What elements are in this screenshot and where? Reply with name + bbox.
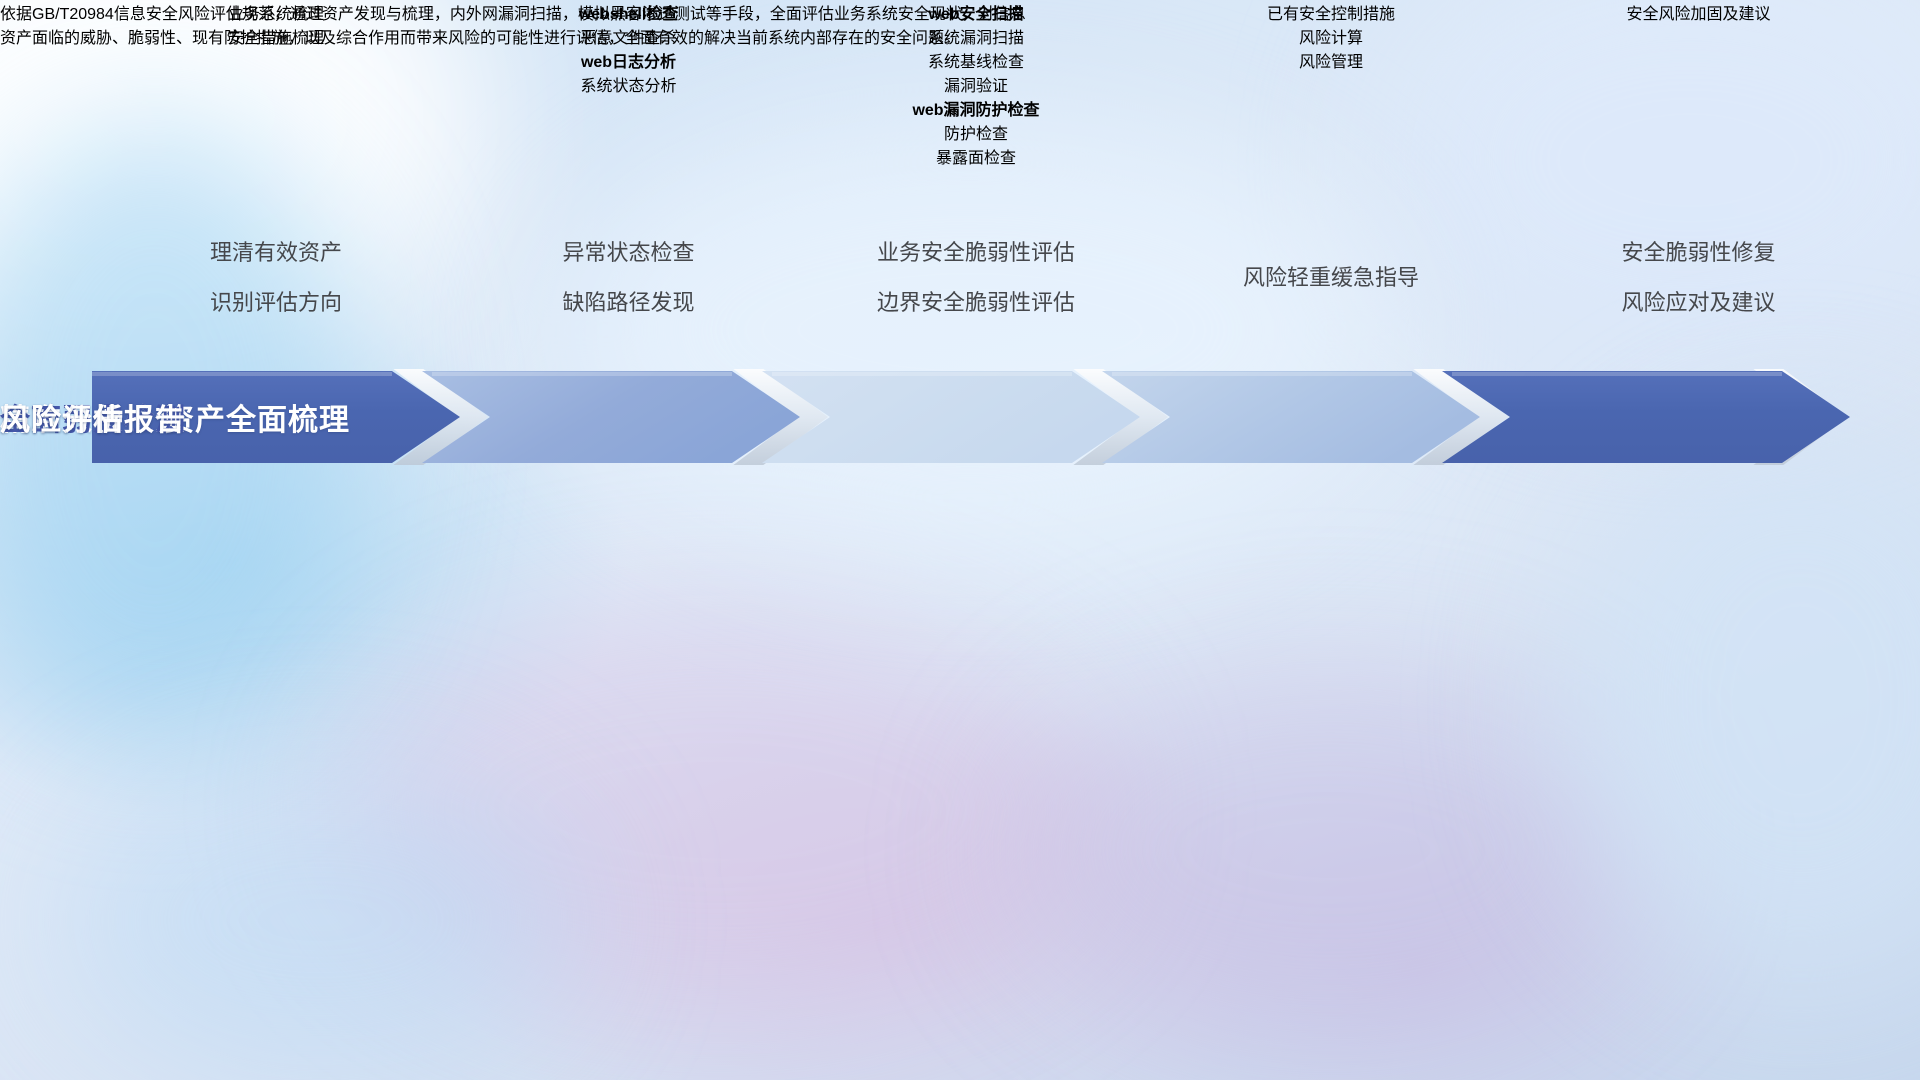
arrow-label-risk-report[interactable]: 风险评估报告	[0, 369, 186, 465]
top-caption: 边界安全脆弱性评估	[801, 278, 1151, 328]
detail-item: 风险计算	[1151, 24, 1511, 48]
top-caption: 风险轻重缓急指导	[1151, 253, 1511, 303]
detail-item: web安全扫描	[801, 0, 1151, 24]
detail-item-text: web安全扫描	[928, 6, 1023, 23]
detail-item-text: web日志分析	[581, 54, 676, 71]
details-asset-inventory: 业务系统梳理 安全措施梳理	[96, 0, 456, 168]
bottom-detail-row: 业务系统梳理 安全措施梳理 webshell检查 恶意文件查杀 web日志分析 …	[96, 0, 1886, 168]
detail-item-text: webshell检查	[579, 6, 679, 23]
detail-item: 系统漏洞扫描	[801, 24, 1151, 48]
details-risk-analysis: 已有安全控制措施 风险计算 风险管理	[1151, 0, 1511, 168]
top-caption: 异常状态检查	[456, 228, 801, 278]
detail-item: web漏洞防护检查	[801, 96, 1151, 120]
details-weakness-detection: web安全扫描 系统漏洞扫描 系统基线检查 漏洞验证 web漏洞防护检查 防护检…	[801, 0, 1151, 168]
top-caption: 缺陷路径发现	[456, 278, 801, 328]
detail-item: 恶意文件查杀	[456, 24, 801, 48]
top-caption: 风险应对及建议	[1511, 278, 1886, 328]
top-caption: 识别评估方向	[96, 278, 456, 328]
detail-item: 漏洞验证	[801, 72, 1151, 96]
details-risk-report: 安全风险加固及建议	[1511, 0, 1886, 168]
top-caption: 业务安全脆弱性评估	[801, 228, 1151, 278]
top-caption-row: 理清有效资产 识别评估方向 异常状态检查 缺陷路径发现 业务安全脆弱性评估 边界…	[96, 228, 1886, 328]
top-caption: 安全脆弱性修复	[1511, 228, 1886, 278]
detail-item: web日志分析	[456, 48, 801, 72]
detail-item: 暴露面检查	[801, 144, 1151, 168]
detail-item: 风险管理	[1151, 48, 1511, 72]
detail-item: webshell检查	[456, 0, 801, 24]
slide-canvas: 理清有效资产 识别评估方向 异常状态检查 缺陷路径发现 业务安全脆弱性评估 边界…	[0, 0, 1920, 1080]
detail-item: 系统状态分析	[456, 72, 801, 96]
top-captions-asset-inventory: 理清有效资产 识别评估方向	[96, 228, 456, 328]
details-intrusion-check: webshell检查 恶意文件查杀 web日志分析 系统状态分析	[456, 0, 801, 168]
top-captions-intrusion-check: 异常状态检查 缺陷路径发现	[456, 228, 801, 328]
top-captions-weakness-detection: 业务安全脆弱性评估 边界安全脆弱性评估	[801, 228, 1151, 328]
detail-item: 安全措施梳理	[96, 24, 456, 48]
detail-item: 安全风险加固及建议	[1511, 0, 1886, 24]
detail-item: 系统基线检查	[801, 48, 1151, 72]
detail-item-text: web漏洞防护检查	[912, 102, 1039, 119]
detail-item: 已有安全控制措施	[1151, 0, 1511, 24]
detail-item: 业务系统梳理	[96, 0, 456, 24]
top-captions-risk-report: 安全脆弱性修复 风险应对及建议	[1511, 228, 1886, 328]
top-caption: 理清有效资产	[96, 228, 456, 278]
detail-item: 防护检查	[801, 120, 1151, 144]
top-captions-risk-analysis: 风险轻重缓急指导	[1151, 228, 1511, 328]
